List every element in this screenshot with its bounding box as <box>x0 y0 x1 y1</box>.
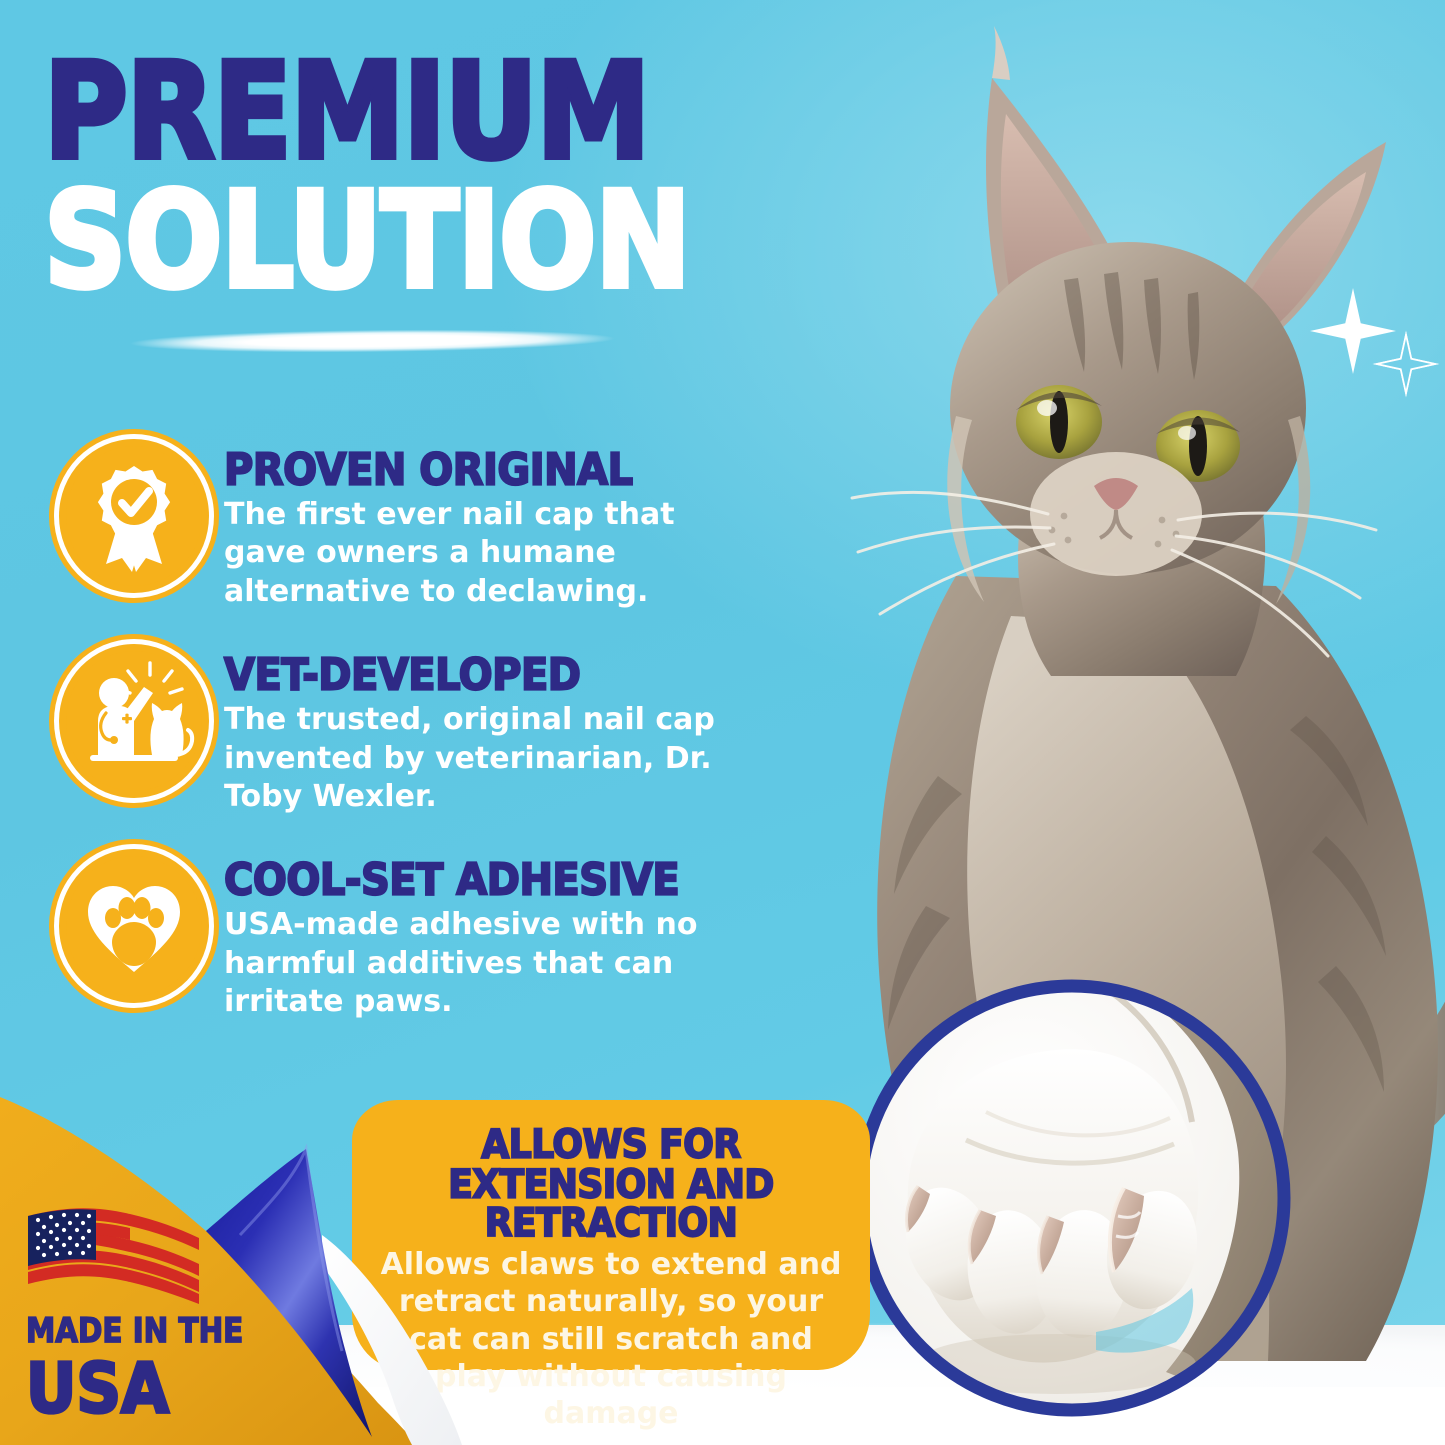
feature-title: VET-DEVELOPED <box>224 653 828 697</box>
made-in-usa-corner: MADE IN THE USA <box>0 1085 520 1445</box>
feature-description: USA-made adhesive with no harmful additi… <box>224 906 774 1021</box>
product-infographic: PREMIUM SOLUTION <box>0 0 1445 1445</box>
feature-item-proven-original: PROVEN ORIGINAL The first ever nail cap … <box>58 440 828 611</box>
award-ribbon-check-icon <box>58 440 210 592</box>
headline-line-1: PREMIUM <box>44 52 870 174</box>
vet-high-five-cat-icon <box>58 645 210 797</box>
feature-item-cool-set-adhesive: COOL-SET ADHESIVE USA-made adhesive with… <box>58 850 828 1021</box>
feature-title: PROVEN ORIGINAL <box>224 448 828 492</box>
feature-title: COOL-SET ADHESIVE <box>224 858 828 902</box>
usa-badge-line-2: USA <box>26 1355 256 1423</box>
headline-line-2: SOLUTION <box>44 181 870 303</box>
heart-paw-icon <box>58 850 210 1002</box>
usa-badge: MADE IN THE USA <box>26 1200 256 1417</box>
usa-badge-line-1: MADE IN THE <box>26 1315 251 1349</box>
feature-description: The trusted, original nail cap invented … <box>224 701 794 816</box>
sparkle-outline-icon <box>1372 330 1440 398</box>
feature-item-vet-developed: VET-DEVELOPED The trusted, original nail… <box>58 645 828 816</box>
feature-description: The first ever nail cap that gave owners… <box>224 496 704 611</box>
headline-block: PREMIUM SOLUTION <box>44 52 854 284</box>
usa-flag-icon <box>26 1200 201 1305</box>
cat-paw-closeup-inset <box>846 972 1298 1424</box>
feature-list: PROVEN ORIGINAL The first ever nail cap … <box>58 440 828 1056</box>
